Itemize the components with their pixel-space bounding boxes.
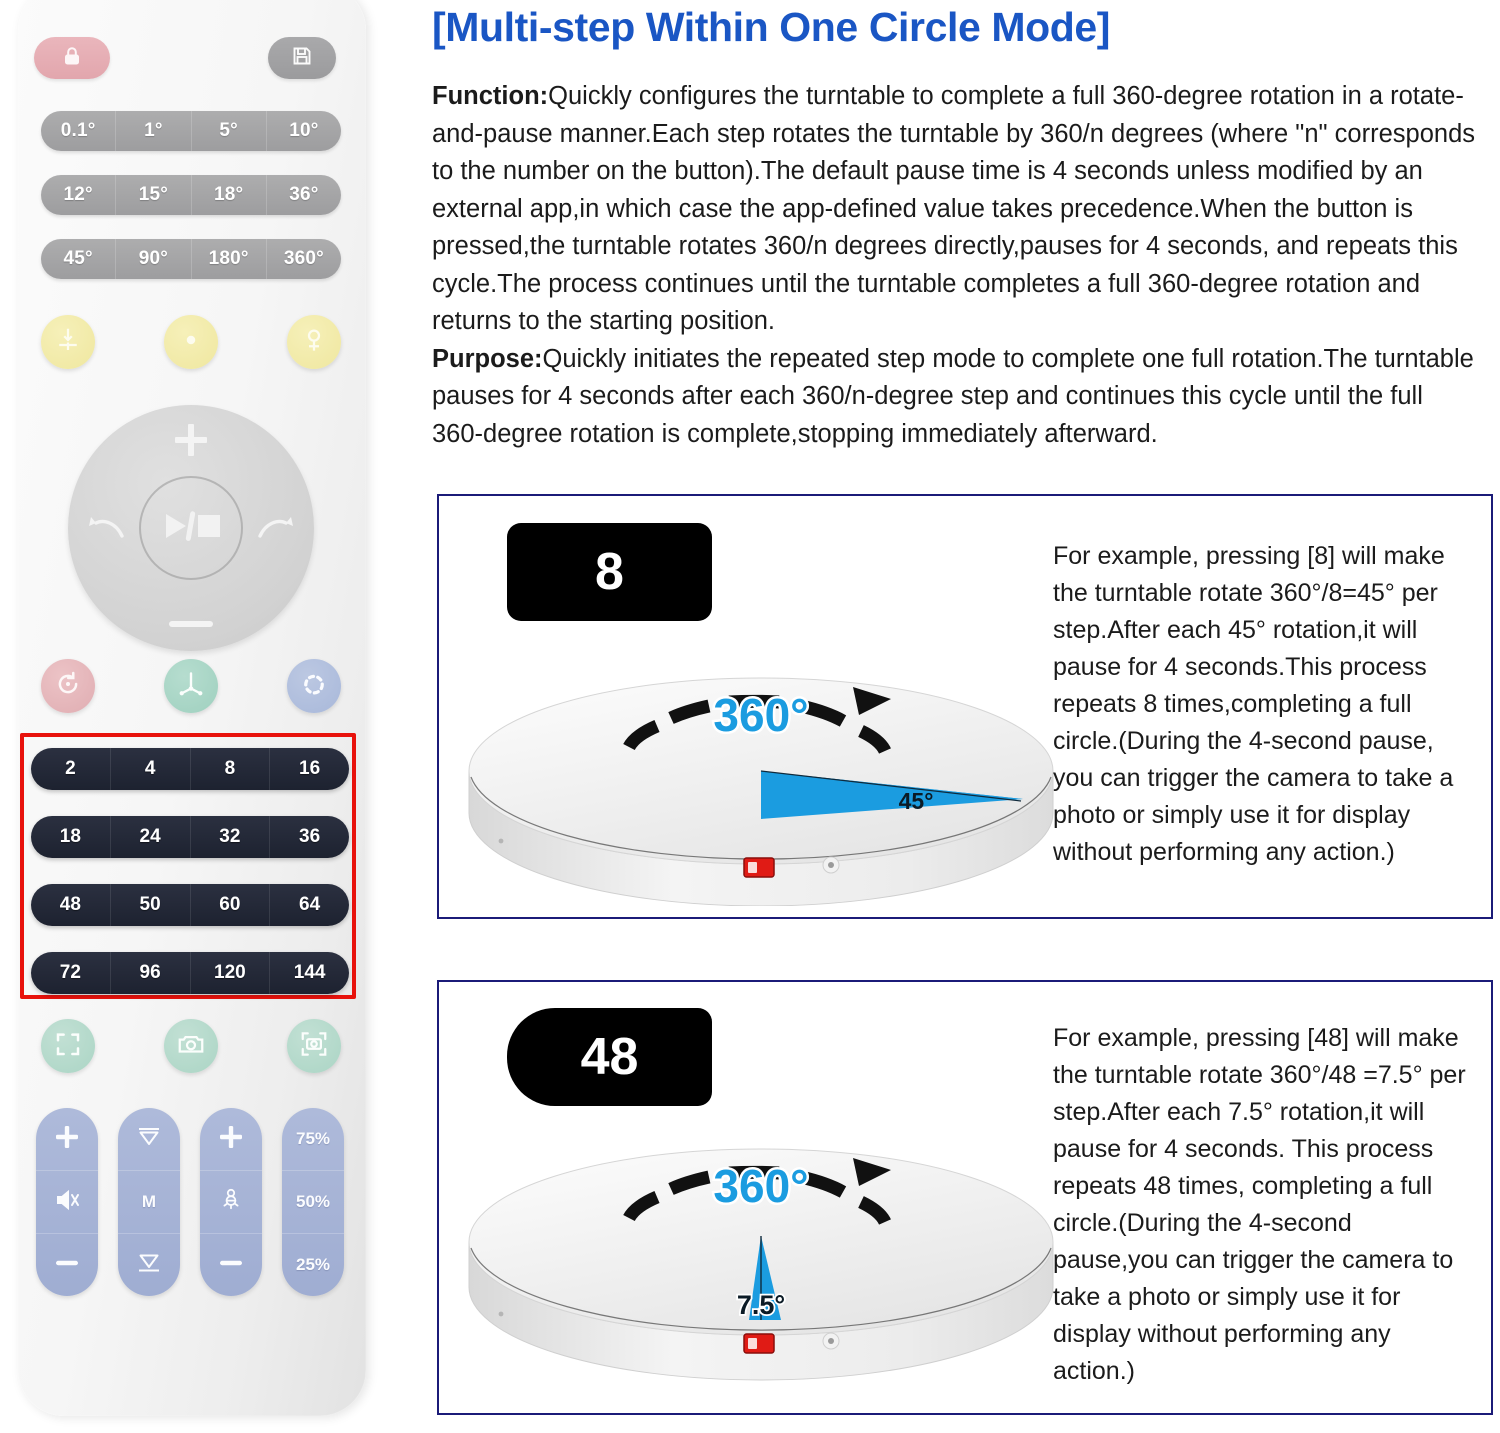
speed-up-icon bbox=[135, 1123, 163, 1156]
mode-button-row bbox=[41, 659, 341, 713]
purpose-text: Quickly initiates the repeated step mode… bbox=[432, 345, 1474, 448]
step-number-button[interactable]: 144 bbox=[270, 952, 349, 994]
lock-button[interactable] bbox=[34, 37, 110, 79]
dashed-circle-button[interactable] bbox=[287, 659, 341, 713]
light-column[interactable] bbox=[200, 1108, 262, 1296]
focus-frame-button[interactable] bbox=[41, 1019, 95, 1073]
step-number-button[interactable]: 50 bbox=[111, 884, 191, 926]
volume-up-button[interactable] bbox=[36, 1108, 98, 1171]
degree-button[interactable]: 45° bbox=[41, 239, 116, 279]
dot-icon bbox=[176, 325, 206, 360]
light-up-button[interactable] bbox=[200, 1108, 262, 1171]
lock-icon bbox=[60, 44, 84, 73]
turntable-step-label: 7.5° bbox=[737, 1290, 785, 1320]
page-root: 0.1° 1° 5° 10° 12° 15° 18° 36° 45° 90° 1… bbox=[0, 0, 1500, 1433]
turntable-illustration-2: 360° 7.5° bbox=[461, 1124, 1061, 1389]
step-number-button[interactable]: 32 bbox=[191, 816, 271, 858]
minus-icon[interactable] bbox=[169, 617, 213, 631]
play-stop-button[interactable] bbox=[139, 476, 243, 580]
step-number-button[interactable]: 2 bbox=[31, 748, 111, 790]
step-number-row-4[interactable]: 72 96 120 144 bbox=[31, 952, 349, 994]
degree-row-1[interactable]: 0.1° 1° 5° 10° bbox=[41, 111, 341, 151]
degree-button[interactable]: 5° bbox=[192, 111, 267, 151]
degree-button[interactable]: 90° bbox=[116, 239, 191, 279]
lamp-button[interactable] bbox=[200, 1171, 262, 1234]
example-badge: 48 bbox=[507, 1008, 712, 1106]
blue-control-columns: M bbox=[36, 1108, 344, 1296]
rotate-object-button[interactable] bbox=[287, 315, 341, 369]
minus-icon bbox=[53, 1249, 81, 1282]
volume-column[interactable] bbox=[36, 1108, 98, 1296]
focus-frame-icon bbox=[53, 1029, 83, 1064]
mute-button[interactable] bbox=[36, 1171, 98, 1234]
dpad[interactable] bbox=[68, 405, 314, 651]
degree-button[interactable]: 0.1° bbox=[41, 111, 116, 151]
step-number-button[interactable]: 96 bbox=[111, 952, 191, 994]
plus-icon[interactable] bbox=[172, 421, 210, 459]
step-number-row-1[interactable]: 2 4 8 16 bbox=[31, 748, 349, 790]
step-number-button[interactable]: 48 bbox=[31, 884, 111, 926]
turntable-svg: 360° 7.5° bbox=[461, 1124, 1061, 1389]
dot-button[interactable] bbox=[164, 315, 218, 369]
function-paragraph: Function:Quickly configures the turntabl… bbox=[432, 78, 1478, 341]
percent-column[interactable]: 75% 50% 25% bbox=[282, 1108, 344, 1296]
lamp-icon bbox=[217, 1186, 245, 1219]
plus-icon bbox=[53, 1123, 81, 1156]
step-number-button[interactable]: 120 bbox=[191, 952, 271, 994]
turntable-illustration-1: 360° 45° bbox=[461, 651, 1061, 906]
loop-reset-button[interactable] bbox=[41, 659, 95, 713]
step-number-button[interactable]: 60 bbox=[191, 884, 271, 926]
step-number-row-3[interactable]: 48 50 60 64 bbox=[31, 884, 349, 926]
degree-button[interactable]: 36° bbox=[267, 175, 341, 215]
degree-row-2[interactable]: 12° 15° 18° 36° bbox=[41, 175, 341, 215]
calibrate-down-icon bbox=[53, 325, 83, 360]
document-column: [Multi-step Within One Circle Mode] Func… bbox=[430, 0, 1500, 1433]
step-number-button[interactable]: 72 bbox=[31, 952, 111, 994]
example-text: For example, pressing [48] will make the… bbox=[1053, 1020, 1473, 1390]
volume-down-button[interactable] bbox=[36, 1234, 98, 1296]
step-number-button[interactable]: 18 bbox=[31, 816, 111, 858]
loop-reset-icon bbox=[53, 669, 83, 704]
step-number-row-2[interactable]: 18 24 32 36 bbox=[31, 816, 349, 858]
percent-25-button[interactable]: 25% bbox=[282, 1234, 344, 1296]
degree-button[interactable]: 1° bbox=[116, 111, 191, 151]
percent-50-button[interactable]: 50% bbox=[282, 1171, 344, 1234]
degree-button[interactable]: 360° bbox=[267, 239, 341, 279]
degree-button[interactable]: 12° bbox=[41, 175, 116, 215]
save-icon bbox=[290, 44, 314, 73]
step-number-button[interactable]: 4 bbox=[111, 748, 191, 790]
pendulum-icon bbox=[176, 669, 206, 704]
rotate-left-icon[interactable] bbox=[88, 512, 128, 544]
degree-button[interactable]: 18° bbox=[192, 175, 267, 215]
function-text: Quickly configures the turntable to comp… bbox=[432, 82, 1475, 335]
degree-row-3[interactable]: 45° 90° 180° 360° bbox=[41, 239, 341, 279]
example-badge: 8 bbox=[507, 523, 712, 621]
rotate-right-icon[interactable] bbox=[254, 512, 294, 544]
step-number-button[interactable]: 8 bbox=[191, 748, 271, 790]
speed-up-button[interactable] bbox=[118, 1108, 180, 1171]
speed-down-button[interactable] bbox=[118, 1234, 180, 1296]
example-text: For example, pressing [8] will make the … bbox=[1053, 538, 1473, 871]
page-title: [Multi-step Within One Circle Mode] bbox=[432, 4, 1110, 51]
camera-frame-icon bbox=[299, 1029, 329, 1064]
calibrate-down-button[interactable] bbox=[41, 315, 95, 369]
minus-icon bbox=[217, 1249, 245, 1282]
camera-button-row bbox=[41, 1019, 341, 1073]
turntable-full-label: 360° bbox=[713, 689, 808, 741]
step-number-button[interactable]: 64 bbox=[270, 884, 349, 926]
example-panel-1: 8 bbox=[437, 494, 1493, 919]
mode-m-button[interactable]: M bbox=[118, 1171, 180, 1234]
turntable-full-label: 360° bbox=[713, 1160, 808, 1212]
light-down-button[interactable] bbox=[200, 1234, 262, 1296]
mute-icon bbox=[53, 1186, 81, 1219]
remote-control-image: 0.1° 1° 5° 10° 12° 15° 18° 36° 45° 90° 1… bbox=[0, 0, 420, 1433]
camera-frame-button[interactable] bbox=[287, 1019, 341, 1073]
degree-button[interactable]: 15° bbox=[116, 175, 191, 215]
dashed-circle-icon bbox=[299, 669, 329, 704]
camera-icon bbox=[176, 1029, 206, 1064]
plus-icon bbox=[217, 1123, 245, 1156]
purpose-label: Purpose: bbox=[432, 345, 543, 373]
rotate-object-icon bbox=[299, 325, 329, 360]
turntable-step-label: 45° bbox=[899, 788, 934, 814]
speed-column[interactable]: M bbox=[118, 1108, 180, 1296]
yellow-button-row bbox=[41, 315, 341, 369]
step-number-button[interactable]: 36 bbox=[270, 816, 349, 858]
percent-75-button[interactable]: 75% bbox=[282, 1108, 344, 1171]
function-label: Function: bbox=[432, 82, 548, 110]
play-stop-icon bbox=[160, 509, 222, 548]
description-body: Function:Quickly configures the turntabl… bbox=[432, 78, 1478, 453]
purpose-paragraph: Purpose:Quickly initiates the repeated s… bbox=[432, 341, 1478, 454]
step-number-button[interactable]: 16 bbox=[270, 748, 349, 790]
degree-button[interactable]: 10° bbox=[267, 111, 341, 151]
example-panel-2: 48 bbox=[437, 980, 1493, 1415]
degree-button[interactable]: 180° bbox=[192, 239, 267, 279]
pendulum-button[interactable] bbox=[164, 659, 218, 713]
speed-down-icon bbox=[135, 1249, 163, 1282]
turntable-svg: 360° 45° bbox=[461, 651, 1061, 906]
camera-button[interactable] bbox=[164, 1019, 218, 1073]
save-button[interactable] bbox=[268, 37, 336, 79]
step-number-button[interactable]: 24 bbox=[111, 816, 191, 858]
